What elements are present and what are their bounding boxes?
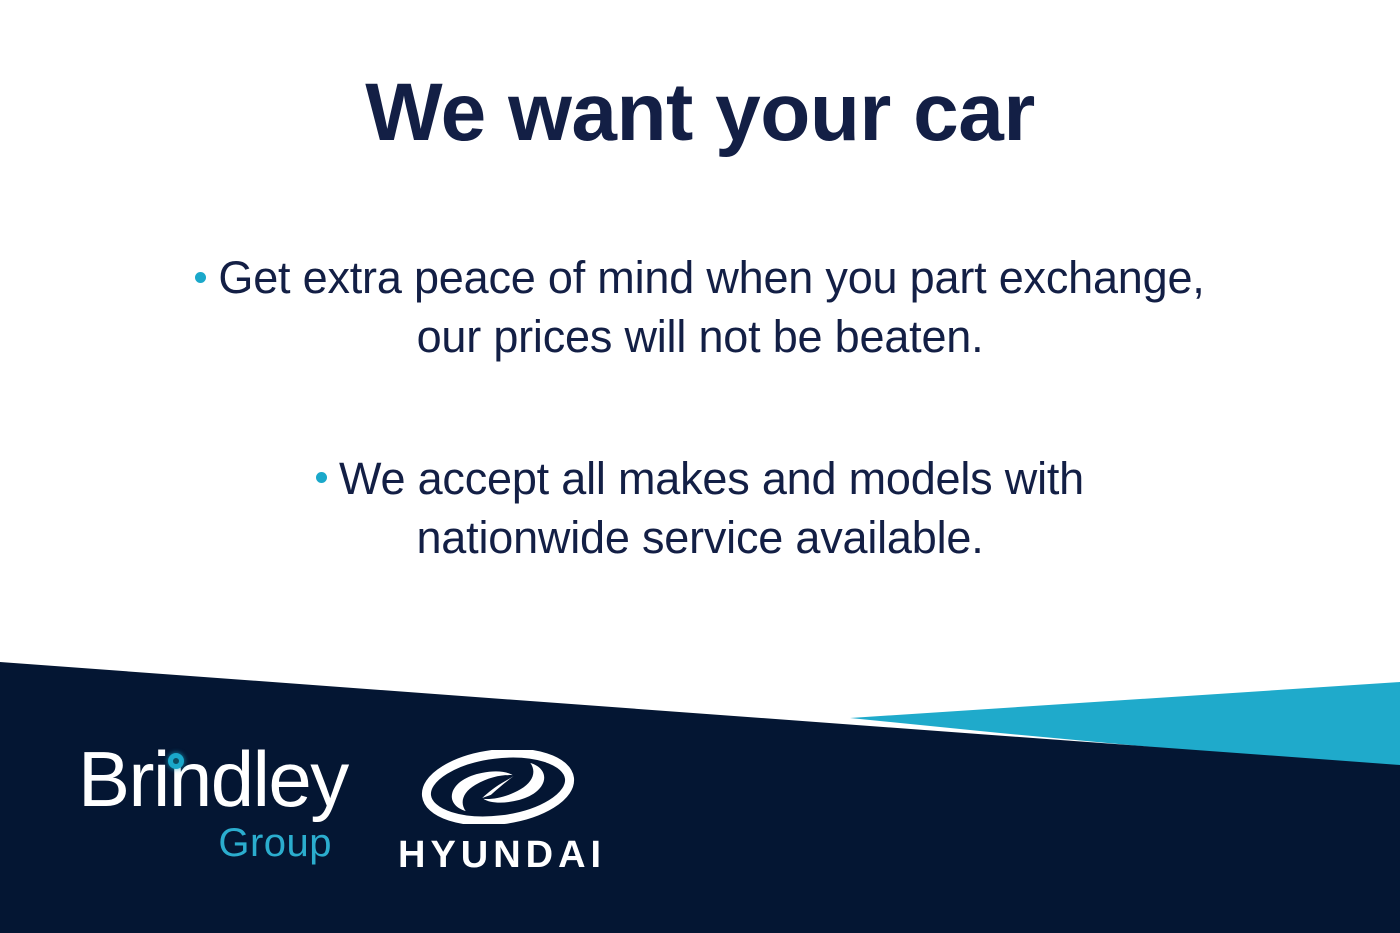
page-title: We want your car	[0, 72, 1400, 154]
list-item-label: We accept all makes and models with nati…	[339, 453, 1084, 563]
hyundai-logo: HYUNDAI	[398, 742, 598, 874]
list-item: Get extra peace of mind when you part ex…	[195, 249, 1205, 367]
brindley-group-logo: Brindley Group	[78, 742, 340, 863]
logo-lockup: Brindley Group HYUNDAI	[78, 742, 598, 874]
bullet-dot-icon	[195, 272, 206, 283]
advert-card: We want your car Get extra peace of mind…	[0, 0, 1400, 933]
brindley-group-subtitle: Group	[78, 823, 340, 863]
hyundai-ellipse-h-icon	[418, 750, 578, 824]
brindley-wordmark: Brindley	[78, 742, 340, 817]
bullet-dot-icon	[316, 472, 327, 483]
benefits-list: Get extra peace of mind when you part ex…	[0, 249, 1400, 568]
list-item-label: Get extra peace of mind when you part ex…	[218, 252, 1204, 362]
hyundai-wordmark: HYUNDAI	[398, 836, 598, 874]
list-item: We accept all makes and models with nati…	[220, 450, 1180, 568]
teal-dot-icon	[168, 753, 184, 769]
teal-band-shape	[850, 682, 1400, 770]
main-content: We want your car Get extra peace of mind…	[0, 0, 1400, 568]
